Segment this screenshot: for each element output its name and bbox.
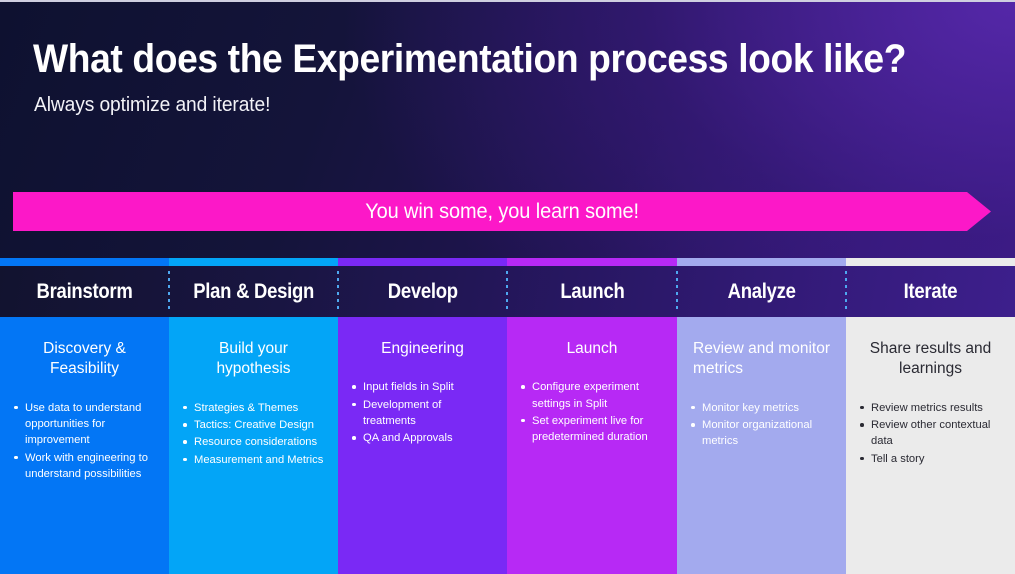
list-item: Review metrics results <box>858 400 1005 416</box>
page-subtitle: Always optimize and iterate! <box>34 94 270 117</box>
column-title: Develop <box>387 280 457 304</box>
list-item: Tactics: Creative Design <box>181 417 328 433</box>
column-header-plan-design: Plan & Design <box>169 266 338 317</box>
column-divider-dotted <box>506 271 508 313</box>
process-column-plan-design[interactable]: Plan & Design Build your hypothesis Stra… <box>169 258 338 574</box>
column-bullet-list: Review metrics results Review other cont… <box>858 400 1005 467</box>
column-title: Launch <box>560 280 624 304</box>
process-column-analyze[interactable]: Analyze Review and monitor metrics Monit… <box>677 258 846 574</box>
column-subtitle: Launch <box>519 339 665 359</box>
process-column-launch[interactable]: Launch Launch Configure experiment setti… <box>507 258 677 574</box>
column-body: Engineering Input fields in Split Develo… <box>338 317 507 574</box>
process-column-iterate[interactable]: Iterate Share results and learnings Revi… <box>846 258 1015 574</box>
column-body: Launch Configure experiment settings in … <box>507 317 677 574</box>
column-subtitle: Build your hypothesis <box>181 339 326 380</box>
column-bullet-list: Strategies & Themes Tactics: Creative De… <box>181 400 328 468</box>
list-item: Tell a story <box>858 451 1005 467</box>
column-header-launch: Launch <box>507 266 677 317</box>
column-title: Analyze <box>727 280 795 304</box>
column-top-strip <box>338 258 507 266</box>
column-title: Iterate <box>904 280 958 304</box>
column-header-iterate: Iterate <box>846 266 1015 317</box>
process-column-brainstorm[interactable]: Brainstorm Discovery & Feasibility Use d… <box>0 258 169 574</box>
list-item: Use data to understand opportunities for… <box>12 400 159 449</box>
column-top-strip <box>0 258 169 266</box>
column-divider-dotted <box>676 271 678 313</box>
process-columns: Brainstorm Discovery & Feasibility Use d… <box>0 258 1015 574</box>
column-body: Share results and learnings Review metri… <box>846 317 1015 574</box>
column-subtitle: Engineering <box>350 339 495 359</box>
column-top-strip <box>846 258 1015 266</box>
list-item: Set experiment live for predetermined du… <box>519 413 667 445</box>
column-bullet-list: Configure experiment settings in Split S… <box>519 379 667 445</box>
column-body: Build your hypothesis Strategies & Theme… <box>169 317 338 574</box>
column-title: Plan & Design <box>193 280 314 304</box>
column-header-develop: Develop <box>338 266 507 317</box>
list-item: Configure experiment settings in Split <box>519 379 667 411</box>
list-item: Monitor organizational metrics <box>689 417 836 449</box>
list-item: Work with engineering to understand poss… <box>12 450 159 482</box>
list-item: QA and Approvals <box>350 430 497 446</box>
column-subtitle: Share results and learnings <box>858 339 1003 380</box>
highlight-banner: You win some, you learn some! <box>13 192 991 231</box>
column-header-brainstorm: Brainstorm <box>0 266 169 317</box>
list-item: Strategies & Themes <box>181 400 328 416</box>
list-item: Resource considerations <box>181 434 328 450</box>
highlight-banner-text: You win some, you learn some! <box>365 200 639 224</box>
column-divider-dotted <box>168 271 170 313</box>
list-item: Review other contextual data <box>858 417 1005 449</box>
slide-canvas: What does the Experimentation process lo… <box>0 0 1015 574</box>
column-bullet-list: Use data to understand opportunities for… <box>12 400 159 482</box>
column-header-analyze: Analyze <box>677 266 846 317</box>
column-divider-dotted <box>337 271 339 313</box>
column-bullet-list: Monitor key metrics Monitor organization… <box>689 400 836 450</box>
page-title: What does the Experimentation process lo… <box>33 37 898 82</box>
column-top-strip <box>507 258 677 266</box>
list-item: Monitor key metrics <box>689 400 836 416</box>
list-item: Measurement and Metrics <box>181 452 328 468</box>
column-top-strip <box>677 258 846 266</box>
column-subtitle: Discovery & Feasibility <box>12 339 157 380</box>
column-subtitle: Review and monitor metrics <box>693 339 834 380</box>
process-column-develop[interactable]: Develop Engineering Input fields in Spli… <box>338 258 507 574</box>
column-body: Discovery & Feasibility Use data to unde… <box>0 317 169 574</box>
list-item: Development of treatments <box>350 397 497 429</box>
column-body: Review and monitor metrics Monitor key m… <box>677 317 846 574</box>
column-title: Brainstorm <box>37 280 133 304</box>
list-item: Input fields in Split <box>350 379 497 395</box>
column-top-strip <box>169 258 338 266</box>
column-divider-dotted <box>845 271 847 313</box>
column-bullet-list: Input fields in Split Development of tre… <box>350 379 497 446</box>
